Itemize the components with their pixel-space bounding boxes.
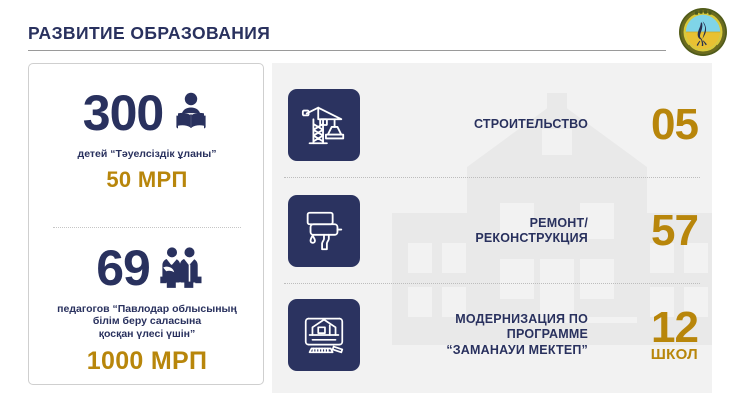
blueprint-house-icon: [288, 299, 360, 371]
label-line: РЕКОНСТРУКЦИЯ: [360, 231, 588, 246]
slide-header: РАЗВИТИЕ ОБРАЗОВАНИЯ: [0, 0, 740, 58]
pavlodar-region-emblem-icon: [678, 7, 728, 57]
metric-number: 12: [606, 307, 698, 349]
construction-crane-icon: [288, 89, 360, 161]
metric-row-construction: СТРОИТЕЛЬСТВО 05: [272, 75, 712, 175]
label-line: МОДЕРНИЗАЦИЯ ПО: [360, 312, 588, 327]
stat-number-300: 300: [83, 88, 163, 138]
label-line: “ЗАМАНАУИ МЕКТЕП”: [360, 343, 588, 358]
row-divider: [284, 177, 700, 178]
page-title: РАЗВИТИЕ ОБРАЗОВАНИЯ: [28, 23, 270, 44]
slide-root: РАЗВИТИЕ ОБРАЗОВАНИЯ: [0, 0, 740, 412]
paint-roller-icon: [288, 195, 360, 267]
stat-block-teachers: 69: [29, 239, 265, 376]
stat-number-69: 69: [96, 243, 150, 293]
metric-label-construction: СТРОИТЕЛЬСТВО: [360, 117, 606, 132]
metric-label-modernization: МОДЕРНИЗАЦИЯ ПО ПРОГРАММЕ “ЗАМАНАУИ МЕКТ…: [360, 312, 606, 358]
caption-line: педагогов “Павлодар облысының: [35, 303, 259, 315]
metric-row-modernization: МОДЕРНИЗАЦИЯ ПО ПРОГРАММЕ “ЗАМАНАУИ МЕКТ…: [272, 285, 712, 385]
metric-value-modernization: 12 ШКОЛ: [606, 307, 712, 364]
metric-label-repair: РЕМОНТ/ РЕКОНСТРУКЦИЯ: [360, 216, 606, 247]
label-line: ПРОГРАММЕ: [360, 327, 588, 342]
stat-caption-teachers: педагогов “Павлодар облысының білім беру…: [29, 303, 265, 340]
stat-amount-teachers: 1000 МРП: [29, 347, 265, 376]
stat-block-children: 300 детей “Тәуелсіздік ұланы” 50 МРП: [29, 84, 265, 193]
person-reading-book-icon: [171, 91, 211, 135]
left-statistics-card: 300 детей “Тәуелсіздік ұланы” 50 МРП: [28, 63, 264, 385]
stat-headline: 69: [29, 239, 265, 297]
two-teachers-icon: [158, 246, 198, 290]
metric-number: 05: [606, 104, 698, 146]
right-metrics-panel: СТРОИТЕЛЬСТВО 05 РЕМОНТ/ РЕКОНСТРУКЦИЯ: [272, 63, 712, 393]
row-divider: [284, 283, 700, 284]
metric-value-construction: 05: [606, 104, 712, 146]
metric-row-repair: РЕМОНТ/ РЕКОНСТРУКЦИЯ 57: [272, 181, 712, 281]
title-divider: [28, 50, 666, 51]
metric-value-repair: 57: [606, 210, 712, 252]
caption-line: қосқан үлесі үшін”: [35, 328, 259, 340]
stat-headline: 300: [29, 84, 265, 142]
metric-unit: ШКОЛ: [606, 346, 698, 363]
label-line: РЕМОНТ/: [360, 216, 588, 231]
caption-line: білім беру саласына: [35, 315, 259, 327]
stat-caption-children: детей “Тәуелсіздік ұланы”: [29, 148, 265, 160]
metric-number: 57: [606, 210, 698, 252]
card-section-divider: [53, 227, 241, 228]
label-line: СТРОИТЕЛЬСТВО: [360, 117, 588, 132]
stat-amount-children: 50 МРП: [29, 167, 265, 193]
